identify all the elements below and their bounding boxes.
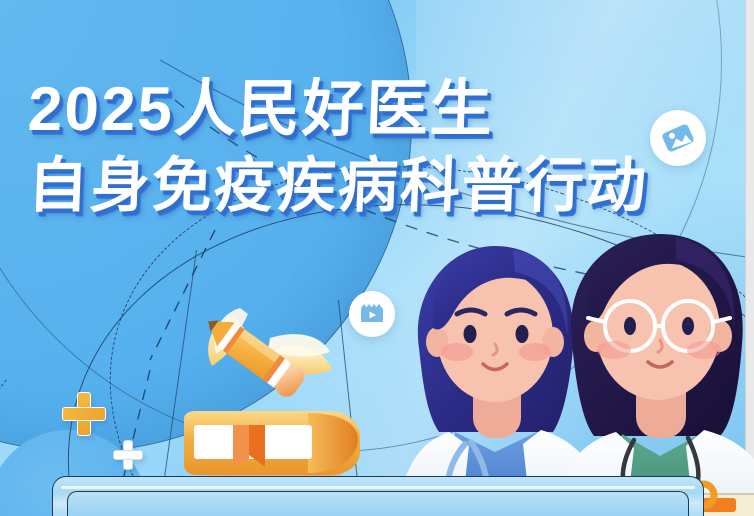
winged-pencil	[178, 300, 338, 420]
desk-panel-inner	[67, 491, 689, 516]
book-with-bookmark	[178, 405, 358, 477]
video-icon[interactable]	[349, 291, 395, 337]
desk-panel	[52, 476, 704, 516]
title-line-2: 自身免疫疾病科普行动	[27, 148, 650, 224]
plus-horizontal-bar	[62, 407, 106, 421]
doctor-right-illustration	[548, 222, 754, 516]
poster-title: 2025人民好医生 自身免疫疾病科普行动	[28, 72, 648, 224]
plus-horizontal-bar	[113, 450, 143, 460]
plus-icon-orange	[62, 392, 106, 436]
plus-icon-white	[113, 440, 143, 470]
poster-canvas: 2025人民好医生 自身免疫疾病科普行动	[0, 0, 754, 516]
title-line-1: 2025人民好医生	[27, 72, 650, 148]
